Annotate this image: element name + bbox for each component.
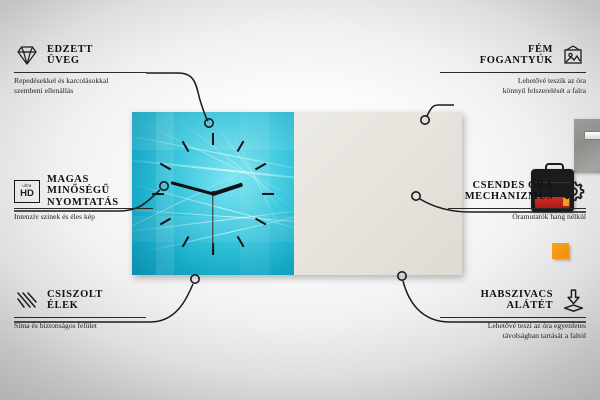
- polished-edge-icon: [14, 287, 40, 313]
- feature-desc: Sima és biztonságos felület: [14, 321, 146, 331]
- clock-marker: [212, 133, 214, 145]
- ultra-hd-icon: ultra HD: [14, 178, 40, 204]
- feature-rule: [448, 208, 586, 209]
- feature-rule: [14, 72, 146, 73]
- metal-hanger-plate: [574, 119, 600, 173]
- feature-polished-edges: CSISZOLT ÉLEK Sima és biztonságos felüle…: [14, 285, 146, 331]
- feature-tempered-glass: EDZETT ÜVEG Repedésekkel és karcolásokka…: [14, 40, 146, 95]
- feature-desc: Óramutatók hang nélkül: [448, 212, 586, 222]
- feature-desc: Repedésekkel és karcolásokkal szembeni e…: [14, 76, 146, 95]
- feature-title: EDZETT ÜVEG: [47, 44, 93, 67]
- foam-pad-icon: [560, 287, 586, 313]
- feature-rule: [440, 317, 586, 318]
- feature-desc: Intenzív színek és éles kép: [14, 212, 153, 222]
- feature-rule: [14, 317, 146, 318]
- feature-desc: Lehetővé teszi az óra egyenletes távolsá…: [440, 321, 586, 340]
- picture-hanger-icon: [560, 42, 586, 68]
- mechanism-hook: [545, 163, 564, 174]
- feature-silent-mechanism: CSENDES ÓRA MECHANIZMUS Óramutatók hang …: [448, 176, 586, 222]
- feature-rule: [440, 72, 586, 73]
- hanger-slot: [584, 131, 600, 140]
- diamond-icon: [14, 42, 40, 68]
- infographic-canvas: EDZETT ÜVEG Repedésekkel és karcolásokka…: [0, 0, 600, 400]
- gear-icon: [560, 178, 586, 204]
- ultra-hd-large-text: HD: [20, 189, 34, 199]
- foam-pad: [552, 243, 569, 259]
- clock-back-panel: [294, 112, 462, 275]
- connector-dot-polished-edges: [191, 275, 199, 283]
- clock-center-pin: [211, 191, 216, 196]
- product-photo: [132, 112, 462, 275]
- feature-foam-pad: HABSZIVACS ALÁTÉT Lehetővé teszi az óra …: [440, 285, 586, 340]
- feature-high-quality-print: ultra HD MAGAS MINŐSÉGŰ NYOMTATÁS Intenz…: [14, 176, 153, 222]
- feature-title: HABSZIVACS ALÁTÉT: [481, 289, 553, 312]
- feature-metal-handles: FÉM FOGANTYÚK Lehetővé teszik az óra kön…: [440, 40, 586, 95]
- feature-desc: Lehetővé teszik az óra könnyű felszerelé…: [440, 76, 586, 95]
- feature-title: CSENDES ÓRA MECHANIZMUS: [465, 180, 553, 203]
- clock-marker: [262, 192, 274, 194]
- clock-marker: [152, 192, 164, 194]
- feature-title: MAGAS MINŐSÉGŰ NYOMTATÁS: [47, 174, 153, 209]
- feature-title: FÉM FOGANTYÚK: [480, 44, 553, 67]
- feature-title: CSISZOLT ÉLEK: [47, 289, 103, 312]
- clock-face: [132, 112, 294, 275]
